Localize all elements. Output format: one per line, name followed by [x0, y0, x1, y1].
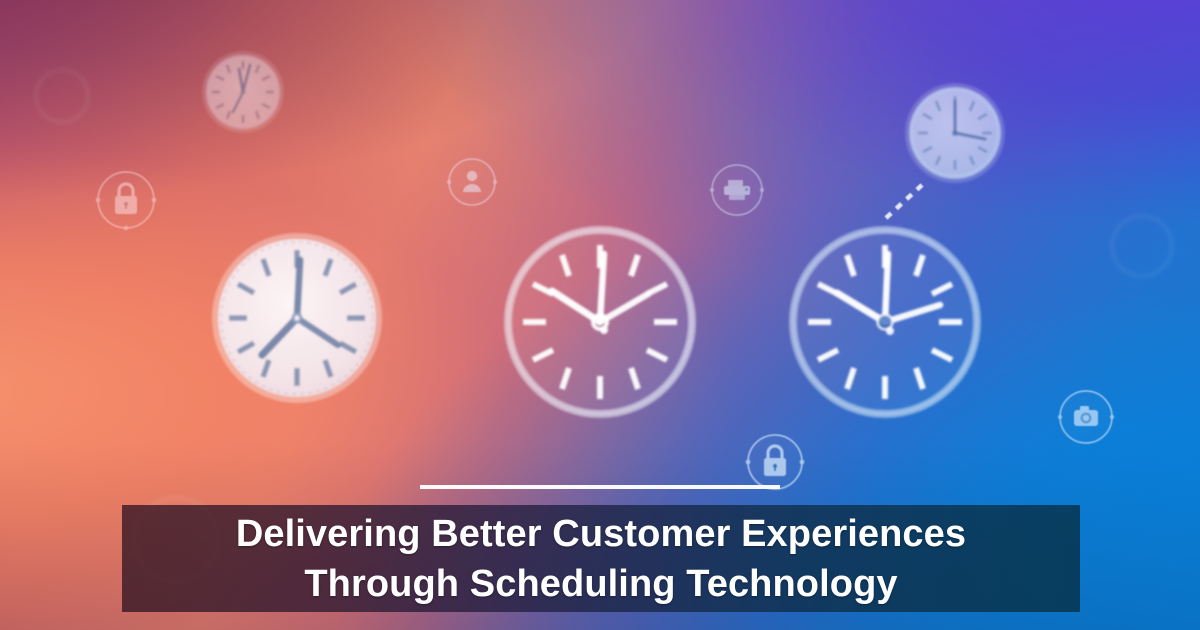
badge-lock-bottom — [746, 435, 805, 489]
connector-diagonal — [886, 185, 922, 218]
banner-image: Delivering Better Customer Experiences T… — [0, 0, 1200, 630]
headline-line-2: Through Scheduling Technology — [304, 559, 897, 609]
title-band: Delivering Better Customer Experiences T… — [122, 505, 1080, 612]
clock-large-left — [212, 233, 382, 403]
badge-user-center — [447, 159, 497, 205]
headline-line-1: Delivering Better Customer Experiences — [236, 509, 966, 559]
clock-small-top-left — [202, 51, 284, 133]
clock-small-top-right — [905, 83, 1005, 183]
clock-large-right — [793, 230, 977, 414]
badge-camera-corner — [1058, 391, 1114, 443]
badge-lock-left — [96, 172, 157, 230]
clock-large-middle — [508, 230, 692, 414]
title-underline-rule — [420, 485, 780, 489]
badge-printer-right — [710, 165, 764, 215]
